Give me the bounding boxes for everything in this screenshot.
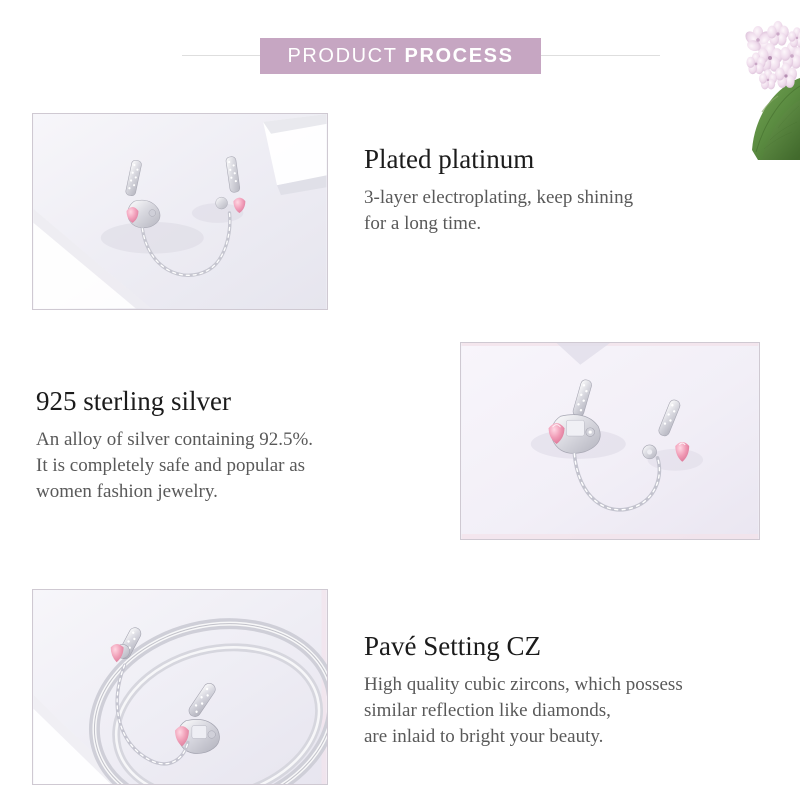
feature-description-line: are inlaid to bright your beauty. — [364, 724, 784, 750]
banner-word-process: PROCESS — [405, 46, 514, 66]
feature-description-line: for a long time. — [364, 211, 774, 237]
page-title-banner: PRODUCT PROCESS — [260, 38, 541, 74]
feature-description: An alloy of silver containing 92.5%. It … — [36, 427, 436, 505]
header-rule-left — [182, 55, 262, 56]
feature-text-plated-platinum: Plated platinum 3-layer electroplating, … — [364, 143, 774, 237]
feature-description: High quality cubic zircons, which posses… — [364, 672, 784, 750]
product-photo-safety-chain-charm-closeup[interactable] — [460, 342, 760, 540]
header-rule-right — [540, 55, 660, 56]
page-header: PRODUCT PROCESS — [0, 0, 800, 110]
feature-text-sterling-silver: 925 sterling silver An alloy of silver c… — [36, 385, 436, 505]
banner-word-product: PRODUCT — [287, 46, 397, 66]
feature-description: 3-layer electroplating, keep shining for… — [364, 185, 774, 237]
feature-description-line: similar reflection like diamonds, — [364, 698, 784, 724]
feature-description-line: women fashion jewelry. — [36, 479, 436, 505]
feature-description-line: It is completely safe and popular as — [36, 453, 436, 479]
feature-text-pave-setting-cz: Pavé Setting CZ High quality cubic zirco… — [364, 630, 784, 750]
feature-description-line: An alloy of silver containing 92.5%. — [36, 427, 436, 453]
feature-description-line: High quality cubic zircons, which posses… — [364, 672, 784, 698]
feature-title: 925 sterling silver — [36, 385, 436, 417]
product-photo-safety-chain-charm-on-white-paper[interactable] — [32, 113, 328, 310]
feature-title: Pavé Setting CZ — [364, 630, 784, 662]
feature-title: Plated platinum — [364, 143, 774, 175]
product-photo-charm-on-bracelet[interactable] — [32, 589, 328, 785]
feature-description-line: 3-layer electroplating, keep shining — [364, 185, 774, 211]
